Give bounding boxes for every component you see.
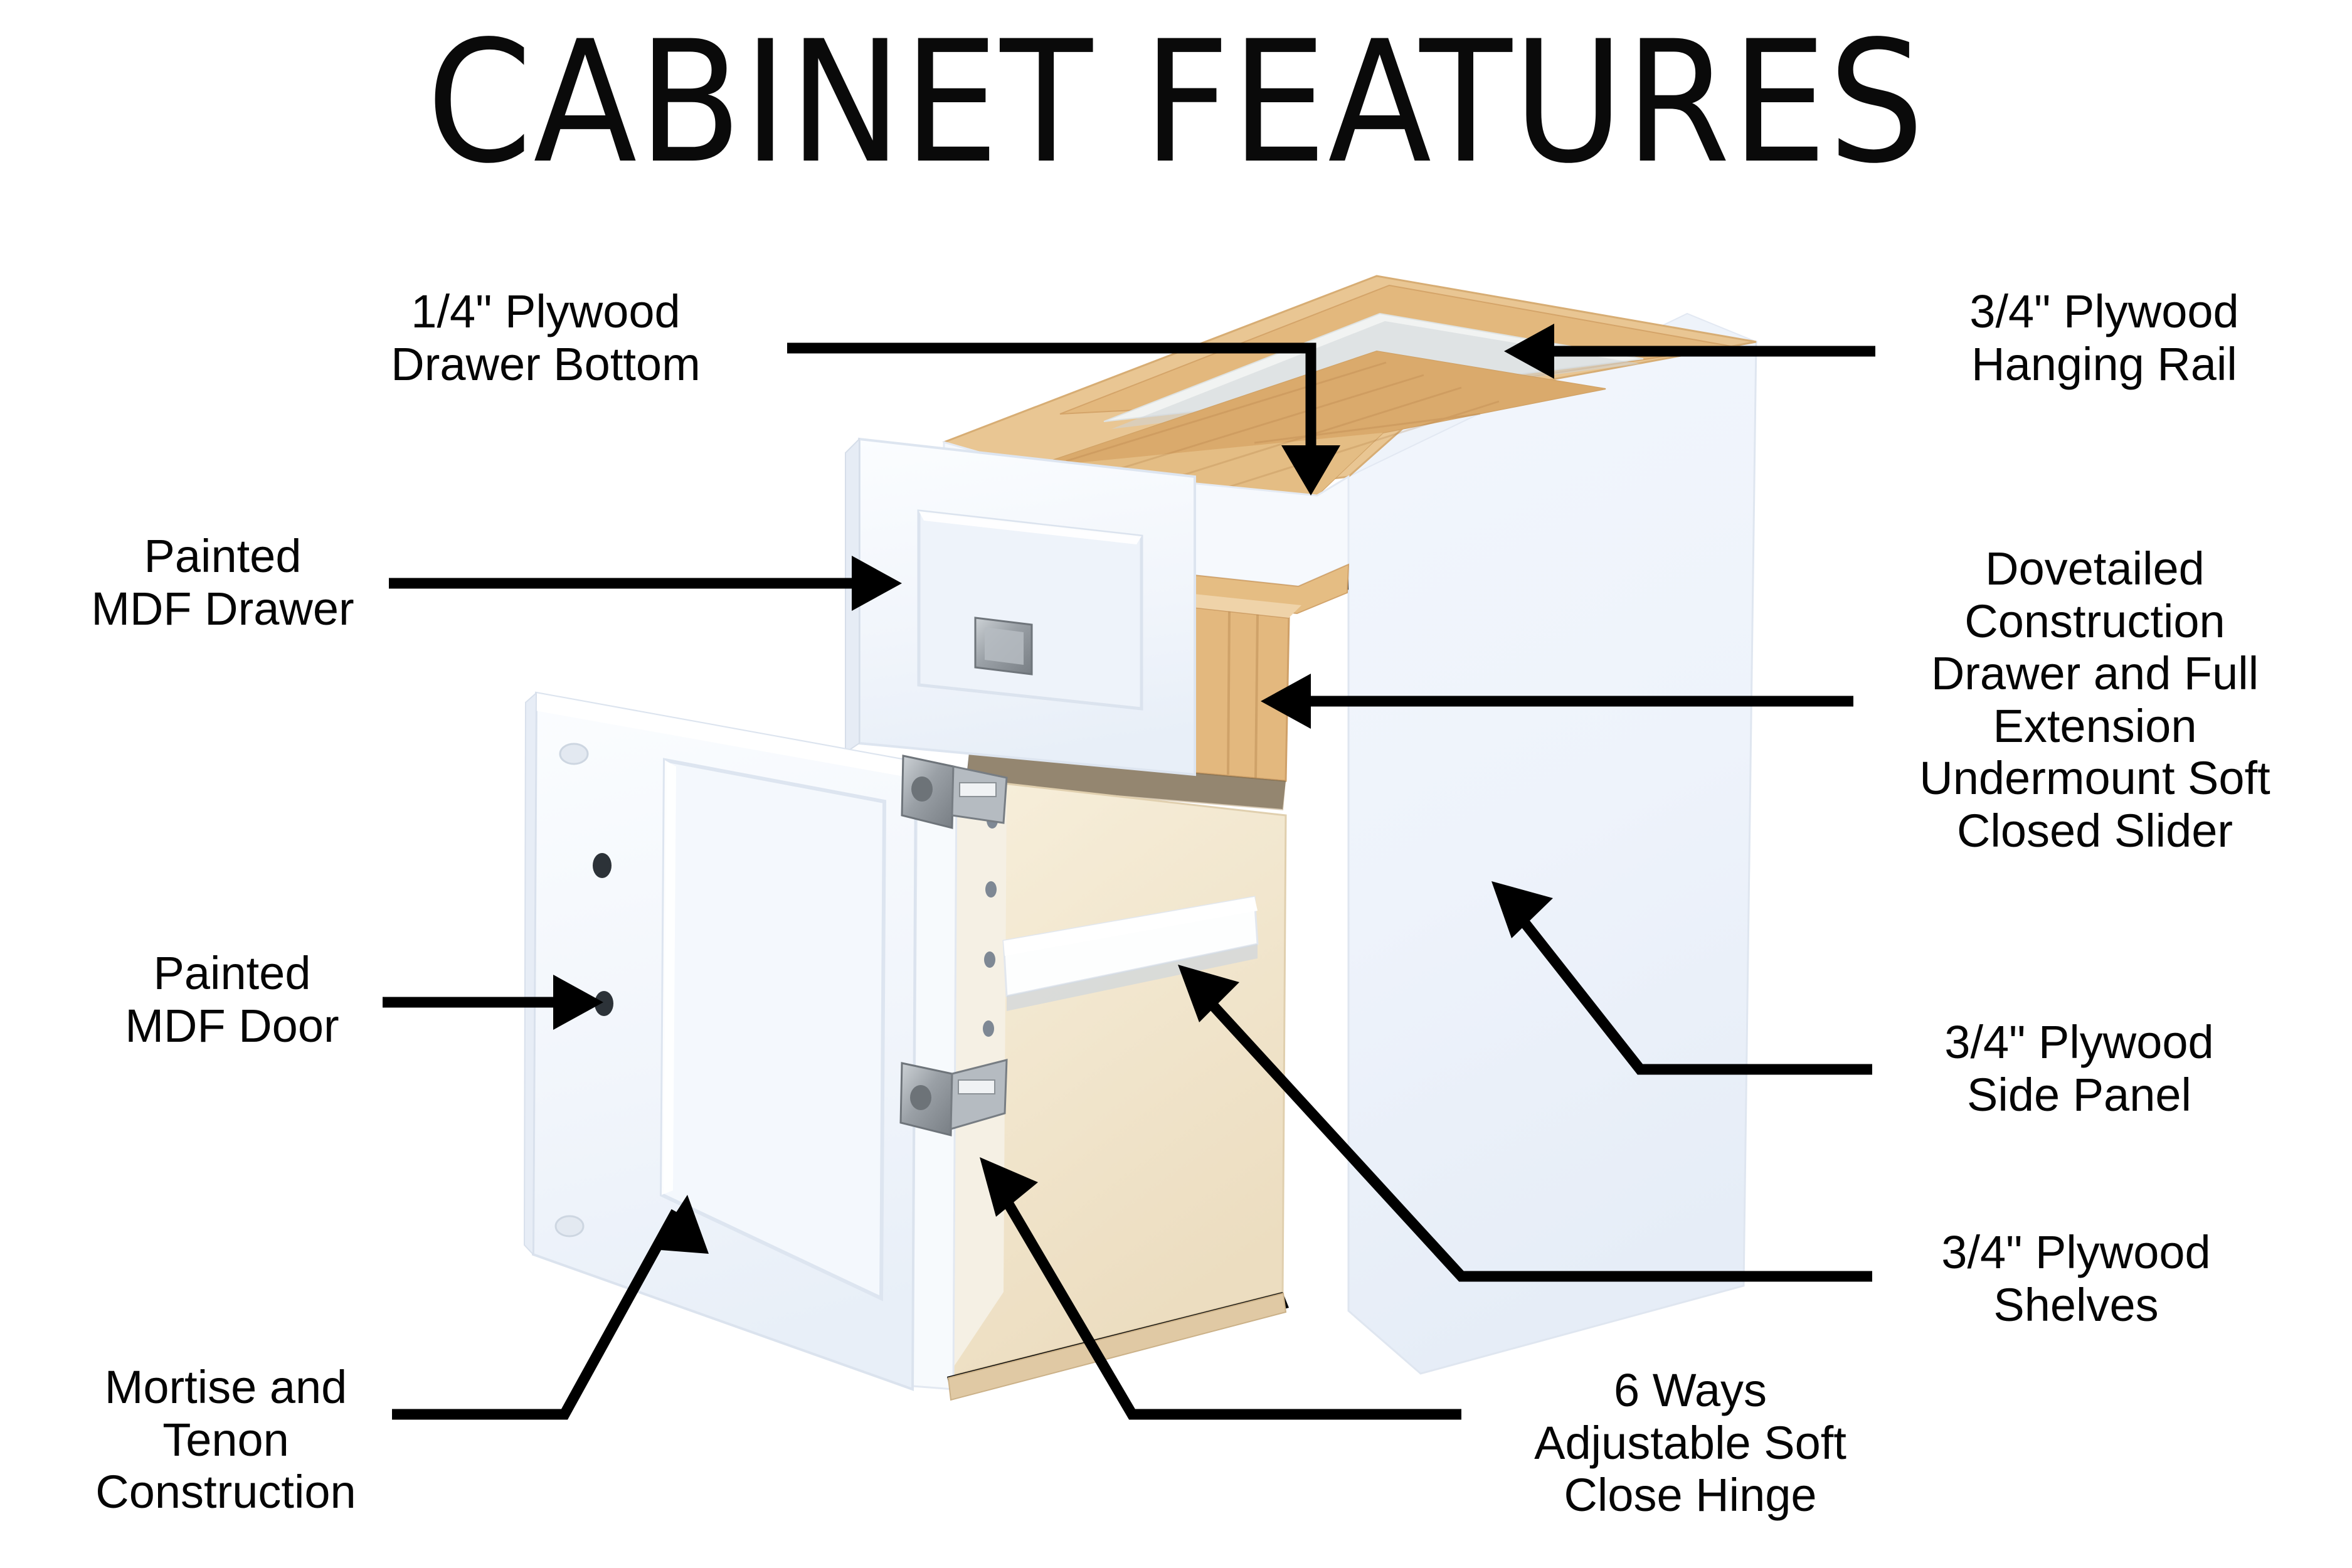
interior-left-wall — [1032, 433, 1383, 530]
arrowhead-hanging-rail — [1504, 324, 1554, 379]
leader-soft-close-hinge — [991, 1174, 1461, 1414]
plywood-grain — [1066, 363, 1499, 499]
drawer-front — [859, 439, 1195, 775]
cabinet-front-stile — [913, 759, 956, 1389]
dovetail-joint-lines — [1228, 612, 1258, 778]
drawer-slider-gap — [967, 753, 1286, 810]
drawer-underside-shadow — [966, 753, 1286, 809]
arrowhead-side-panel — [1491, 881, 1553, 938]
callout-label-dovetail-slider: Dovetailed Construction Drawer and Full … — [1878, 543, 2311, 857]
carcass-top-frame — [944, 276, 1756, 521]
shelf-pin-holes — [982, 812, 998, 1106]
cabinet-bottom-edge — [947, 1292, 1289, 1399]
drawer-front-inset-panel — [919, 511, 1142, 709]
door-bumper-pads — [556, 744, 588, 1236]
leader-drawer-bottom — [787, 348, 1311, 464]
page-title: CABINET FEATURES — [0, 19, 2352, 187]
drawer-front-inset-bevel — [919, 511, 1142, 544]
callout-label-drawer-bottom: 1/4" Plywood Drawer Bottom — [326, 285, 765, 390]
callout-label-painted-mdf-drawer: Painted MDF Drawer — [56, 530, 389, 635]
arrowheads — [553, 324, 1554, 1254]
callout-label-soft-close-hinge: 6 Ways Adjustable Soft Close Hinge — [1477, 1364, 1904, 1522]
door-hinge-screw-marks — [593, 853, 613, 1016]
arrowhead-painted-mdf-door — [553, 975, 603, 1030]
plywood-shelf-edge — [1004, 897, 1258, 956]
arrowhead-drawer-bottom — [1281, 445, 1340, 495]
drawer-box-top-edge — [975, 572, 1301, 618]
drawer-box-side — [969, 583, 1289, 781]
front-rail-wood-edge — [976, 552, 1348, 613]
hanging-rail-shadow — [1111, 321, 1641, 429]
leader-mortise-tenon — [392, 1212, 676, 1414]
carcass-interior-cavity — [1032, 351, 1606, 530]
cabinet-door — [533, 693, 916, 1389]
top-back-wood-band — [1060, 285, 1731, 414]
arrowhead-shelves — [1178, 965, 1239, 1022]
door-top-edge — [532, 693, 916, 778]
door-center-panel-bevel-left — [662, 760, 676, 1195]
upper-soft-close-hinge — [902, 756, 1007, 828]
leader-shelves — [1192, 982, 1872, 1276]
cabinet-interior-lower — [947, 778, 1286, 1377]
callout-label-hanging-rail: 3/4" Plywood Hanging Rail — [1904, 285, 2305, 390]
poster-canvas: CABINET FEATURES — [0, 0, 2352, 1568]
leader-side-panel — [1505, 898, 1872, 1069]
carcass-front-top-rail-edge — [975, 552, 1348, 612]
shelf-underside-shadow — [1007, 944, 1258, 1011]
callout-label-shelves: 3/4" Plywood Shelves — [1897, 1226, 2255, 1331]
drawer-knob — [975, 618, 1032, 674]
plywood-shelf — [1004, 897, 1258, 996]
side-panel-top-edge — [1348, 314, 1756, 477]
callout-label-mortise-tenon: Mortise and Tenon Construction — [60, 1361, 392, 1518]
interior-back-wall — [1032, 351, 1606, 467]
arrowhead-soft-close-hinge — [980, 1157, 1038, 1217]
cabinet-body — [524, 276, 1756, 1400]
lower-soft-close-hinge — [901, 1060, 1007, 1135]
cabinet-bottom-wood — [948, 1293, 1286, 1400]
callout-label-side-panel: 3/4" Plywood Side Panel — [1900, 1016, 2258, 1121]
carcass-front-top-rail — [944, 442, 1348, 586]
arrowhead-dovetail-slider — [1261, 674, 1311, 729]
cabinet-interior-back-wall — [947, 778, 1007, 1377]
callout-label-painted-mdf-door: Painted MDF Door — [75, 947, 389, 1052]
hanging-rail — [1104, 314, 1643, 421]
door-left-edge — [524, 693, 536, 1254]
arrowhead-painted-mdf-drawer — [852, 556, 902, 611]
drawer-front-left-edge — [845, 439, 859, 753]
door-center-panel — [662, 760, 884, 1298]
arrowhead-mortise-tenon — [652, 1195, 709, 1254]
side-panel-surface — [1348, 342, 1756, 1374]
